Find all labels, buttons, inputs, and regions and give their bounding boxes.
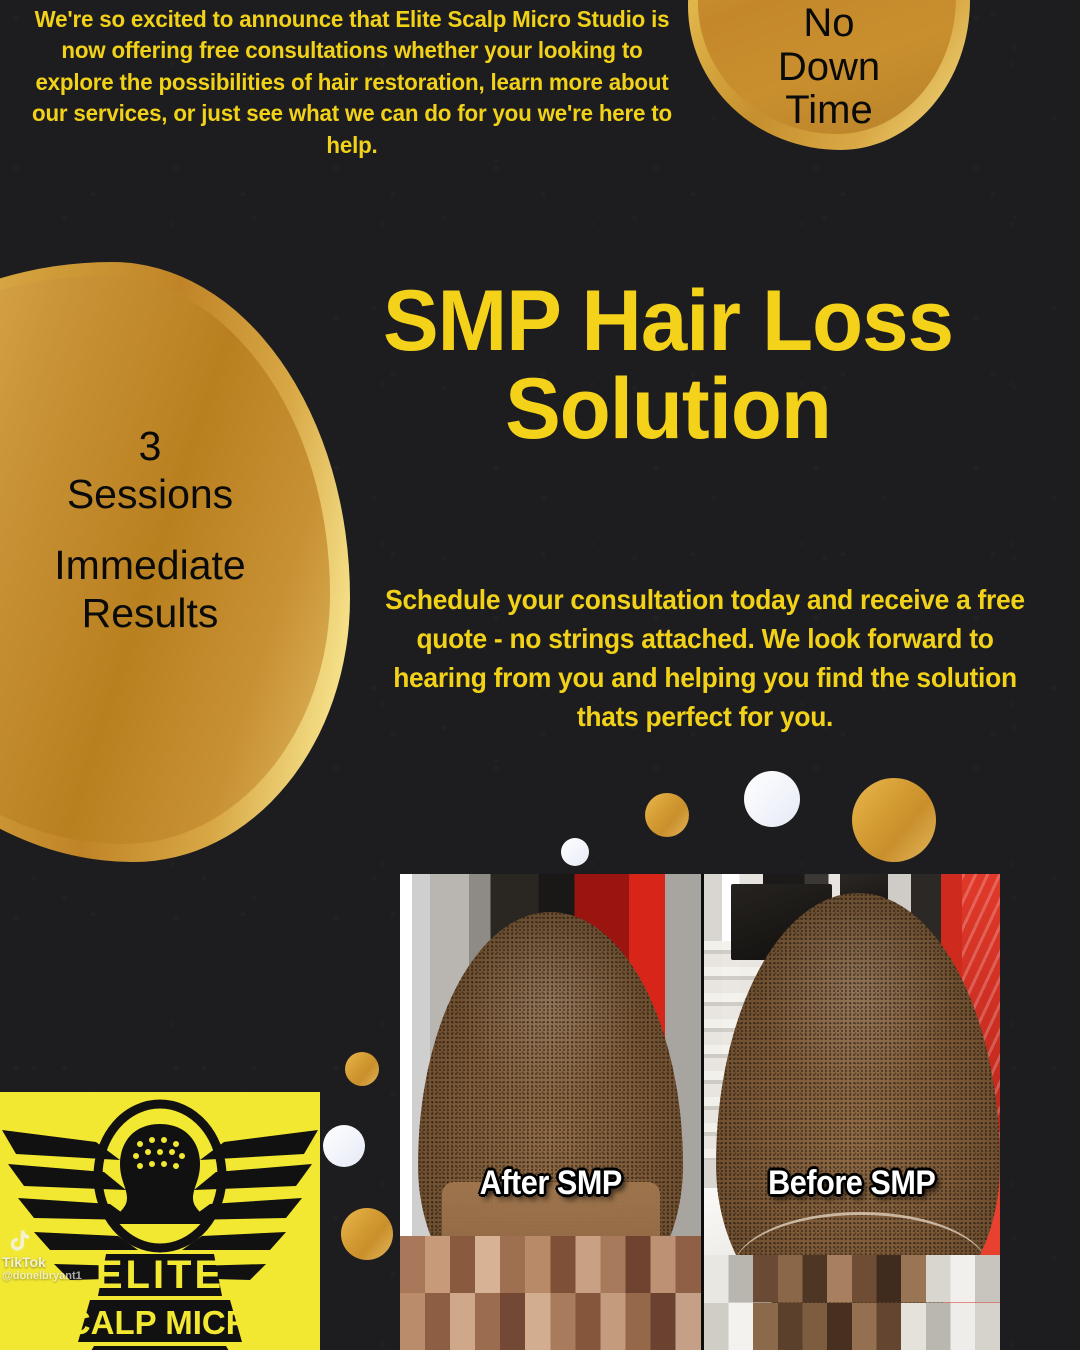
headline-line-2: Solution [311,366,1025,454]
badge-line-1: No [688,2,970,45]
left-badge-text-block: 3 Sessions Immediate Results [0,422,300,638]
left-badge-spacer [0,519,300,541]
gold-dot-upper-left-strip [345,1052,379,1086]
logo-line-1: ELITE [96,1253,224,1297]
no-down-time-badge: No Down Time [688,0,970,150]
brand-logo-panel: ELITE SCALP MICRO STUDIO [0,1092,320,1350]
before-after-photo-strip: After SMP Before SMP [400,874,1000,1350]
before-photo: Before SMP [704,874,1000,1350]
badge-text-block: No Down Time [688,2,970,132]
gold-dot-small [645,793,689,837]
badge-line-2: Down [688,46,970,89]
after-photo: After SMP [400,874,701,1350]
after-photo-label: After SMP [415,1164,686,1203]
before-photo-label: Before SMP [719,1164,985,1203]
left-badge-line-3: Immediate [0,541,300,589]
tiktok-wordmark: TikTok [2,1255,82,1270]
poster-canvas: We're so excited to announce that Elite … [0,0,1080,1350]
left-badge-line-2: Sessions [0,470,300,518]
announcement-text: We're so excited to announce that Elite … [25,4,679,161]
white-dot-large [744,771,800,827]
left-badge-line-4: Results [0,589,300,637]
logo-line-2: SCALP MICRO [45,1304,275,1341]
white-dot-mid-left-strip [323,1125,365,1167]
sessions-results-badge: 3 Sessions Immediate Results [0,262,350,862]
winged-head-logo-icon: ELITE SCALP MICRO STUDIO [0,1098,320,1350]
badge-line-3: Time [688,89,970,132]
gold-dot-lower-left-strip [341,1208,393,1260]
tiktok-note-icon [4,1228,30,1254]
after-face-censor-bar [400,1236,701,1350]
body-copy-text: Schedule your consultation today and rec… [369,580,1041,736]
tiktok-watermark: TikTok @donelbryant1 [2,1228,82,1284]
page-title: SMP Hair Loss Solution [311,278,1025,453]
tiktok-handle: @donelbryant1 [2,1270,82,1283]
logo-line-3: STUDIO [98,1344,223,1350]
before-face-censor-bar [704,1255,1000,1350]
gold-dot-large [852,778,936,862]
white-dot-small [561,838,589,866]
headline-line-1: SMP Hair Loss [311,278,1025,366]
left-badge-line-1: 3 [0,422,300,470]
